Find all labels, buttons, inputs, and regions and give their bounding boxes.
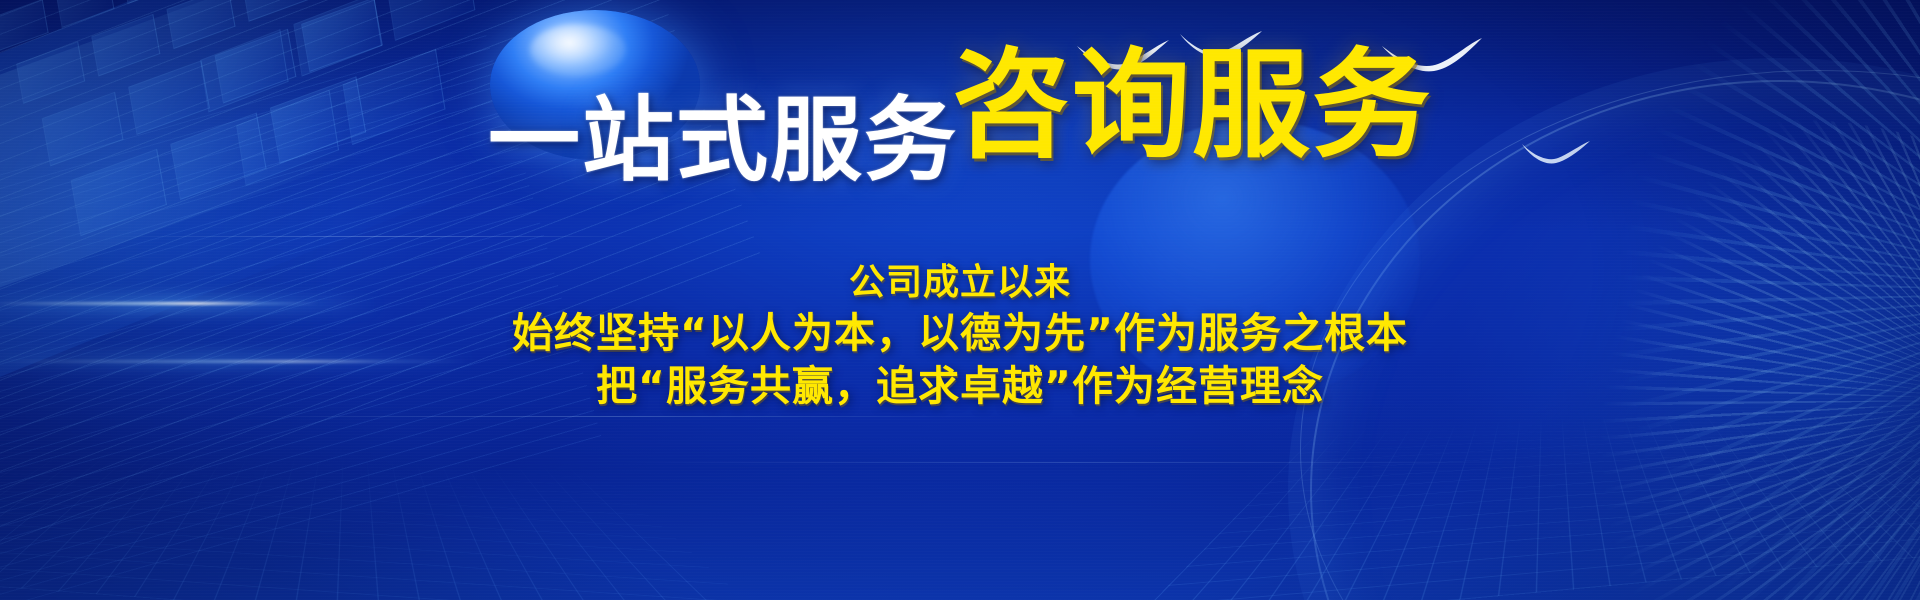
banner-body-copy: 公司成立以来 始终坚持“以人为本，以德为先”作为服务之根本 把“服务共赢，追求卓…: [0, 260, 1920, 413]
body-line-3: 把“服务共赢，追求卓越”作为经营理念: [0, 360, 1920, 413]
banner-headline: 一站式服务咨询服务: [0, 72, 1920, 190]
headline-primary-text: 一站式服务: [488, 87, 958, 194]
promo-banner: 一站式服务咨询服务 公司成立以来 始终坚持“以人为本，以德为先”作为服务之根本 …: [0, 0, 1920, 600]
body-line-1: 公司成立以来: [0, 260, 1920, 307]
headline-accent-text: 咨询服务: [952, 36, 1432, 174]
body-line-2: 始终坚持“以人为本，以德为先”作为服务之根本: [0, 307, 1920, 360]
